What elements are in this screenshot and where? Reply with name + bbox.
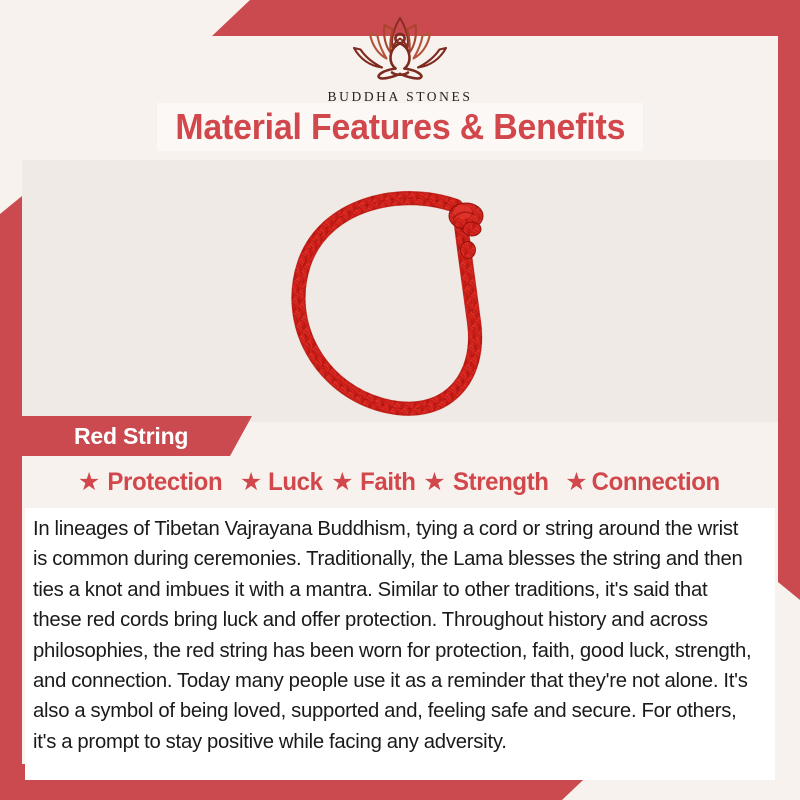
infographic-poster: BUDDHA STONES Material Features & Benefi… xyxy=(0,0,800,800)
benefit-item-luck: ★ Luck xyxy=(240,468,324,497)
red-braided-string-bracelet-icon xyxy=(250,172,550,424)
star-icon: ★ xyxy=(565,470,587,495)
benefit-label: Faith xyxy=(360,468,415,497)
benefit-item-strength: ★ Strength xyxy=(423,468,550,497)
brand-logo: BUDDHA STONES xyxy=(0,14,800,105)
benefit-item-protection: ★ Protection xyxy=(78,468,225,497)
benefit-label: Connection xyxy=(591,468,719,497)
material-ribbon: Red String xyxy=(22,416,252,456)
lotus-meditation-icon xyxy=(337,14,463,86)
benefit-label: Protection xyxy=(108,468,223,497)
benefit-label: Luck xyxy=(268,468,322,497)
star-icon: ★ xyxy=(240,470,262,495)
star-icon: ★ xyxy=(423,470,445,495)
benefits-list: ★ Protection ★ Luck ★ Faith ★ Strength ★… xyxy=(22,460,778,504)
benefit-label: Strength xyxy=(453,468,549,497)
description-panel: In lineages of Tibetan Vajrayana Buddhis… xyxy=(25,508,775,780)
hero-product-image xyxy=(0,168,800,428)
description-text: In lineages of Tibetan Vajrayana Buddhis… xyxy=(33,514,754,757)
page-title: Material Features & Benefits xyxy=(175,106,625,148)
star-icon: ★ xyxy=(78,470,100,495)
material-name: Red String xyxy=(74,423,188,450)
benefit-item-faith: ★ Faith xyxy=(331,468,416,497)
star-icon: ★ xyxy=(331,470,353,495)
title-band: Material Features & Benefits xyxy=(157,103,643,151)
benefit-item-connection: ★ Connection xyxy=(565,468,722,497)
